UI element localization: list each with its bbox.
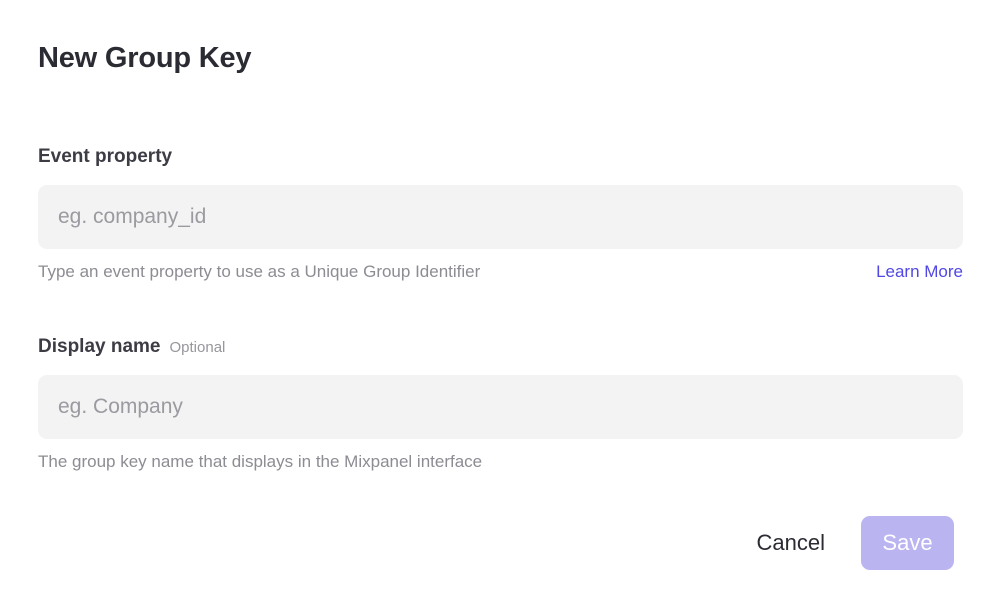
display-name-label-text: Display name — [38, 336, 161, 359]
event-property-label-text: Event property — [38, 146, 172, 169]
page-title: New Group Key — [38, 40, 251, 78]
event-property-input[interactable] — [38, 185, 963, 249]
field-group-event-property: Event property Type an event property to… — [38, 146, 963, 283]
display-name-optional-tag: Optional — [170, 339, 226, 357]
event-property-label: Event property — [38, 146, 963, 169]
display-name-input[interactable] — [38, 375, 963, 439]
save-button[interactable]: Save — [861, 516, 954, 570]
field-group-display-name: Display name Optional The group key name… — [38, 336, 963, 473]
cancel-button[interactable]: Cancel — [757, 532, 825, 554]
display-name-helper-row: The group key name that displays in the … — [38, 451, 963, 473]
event-property-helper-text: Type an event property to use as a Uniqu… — [38, 261, 480, 283]
display-name-label: Display name Optional — [38, 336, 963, 359]
learn-more-link[interactable]: Learn More — [876, 262, 963, 282]
display-name-helper-text: The group key name that displays in the … — [38, 451, 482, 473]
new-group-key-dialog: New Group Key Event property Type an eve… — [0, 0, 1000, 608]
event-property-helper-row: Type an event property to use as a Uniqu… — [38, 261, 963, 283]
dialog-footer: Cancel Save — [757, 516, 954, 570]
